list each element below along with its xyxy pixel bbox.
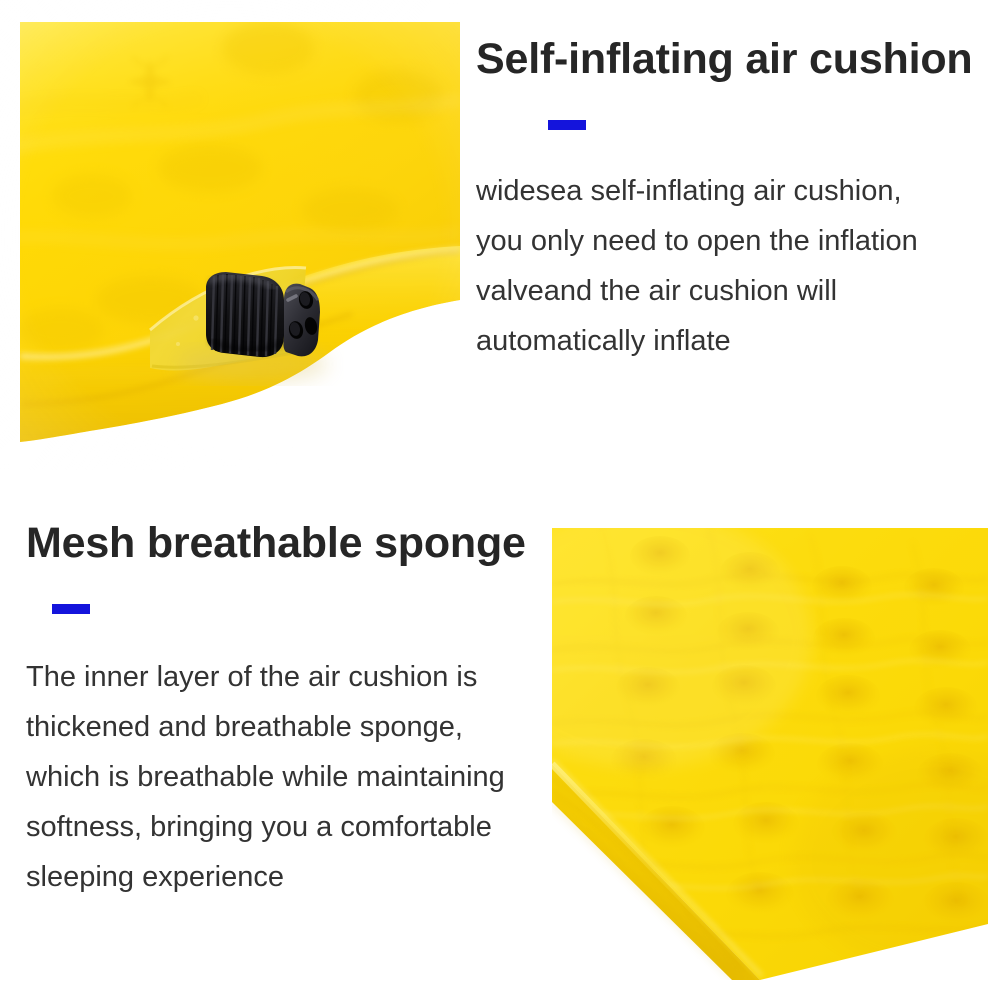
section-mesh-sponge: Mesh breathable sponge The inner layer o… — [26, 518, 546, 902]
section-body-self-inflating: widesea self-inflating air cushion, you … — [476, 166, 986, 366]
body-line: thickened and breathable sponge, — [26, 702, 546, 752]
body-line: you only need to open the inflation — [476, 216, 986, 266]
section-heading-self-inflating: Self-inflating air cushion — [476, 34, 986, 84]
quilted-sponge-mat-photo — [552, 528, 988, 980]
section-heading-mesh-sponge: Mesh breathable sponge — [26, 518, 546, 568]
infographic-page: Self-inflating air cushion widesea self-… — [0, 0, 1000, 1000]
section-self-inflating: Self-inflating air cushion widesea self-… — [476, 34, 986, 366]
body-line: automatically inflate — [476, 316, 986, 366]
accent-bar-self-inflating — [548, 120, 586, 130]
body-line: softness, bringing you a comfortable — [26, 802, 546, 852]
body-line: which is breathable while maintaining — [26, 752, 546, 802]
body-line: sleeping experience — [26, 852, 546, 902]
accent-bar-mesh-sponge — [52, 604, 90, 614]
body-line: valveand the air cushion will — [476, 266, 986, 316]
air-cushion-valve-photo — [0, 0, 460, 470]
body-line: The inner layer of the air cushion is — [26, 652, 546, 702]
body-line: widesea self-inflating air cushion, — [476, 166, 986, 216]
section-body-mesh-sponge: The inner layer of the air cushion is th… — [26, 652, 546, 902]
